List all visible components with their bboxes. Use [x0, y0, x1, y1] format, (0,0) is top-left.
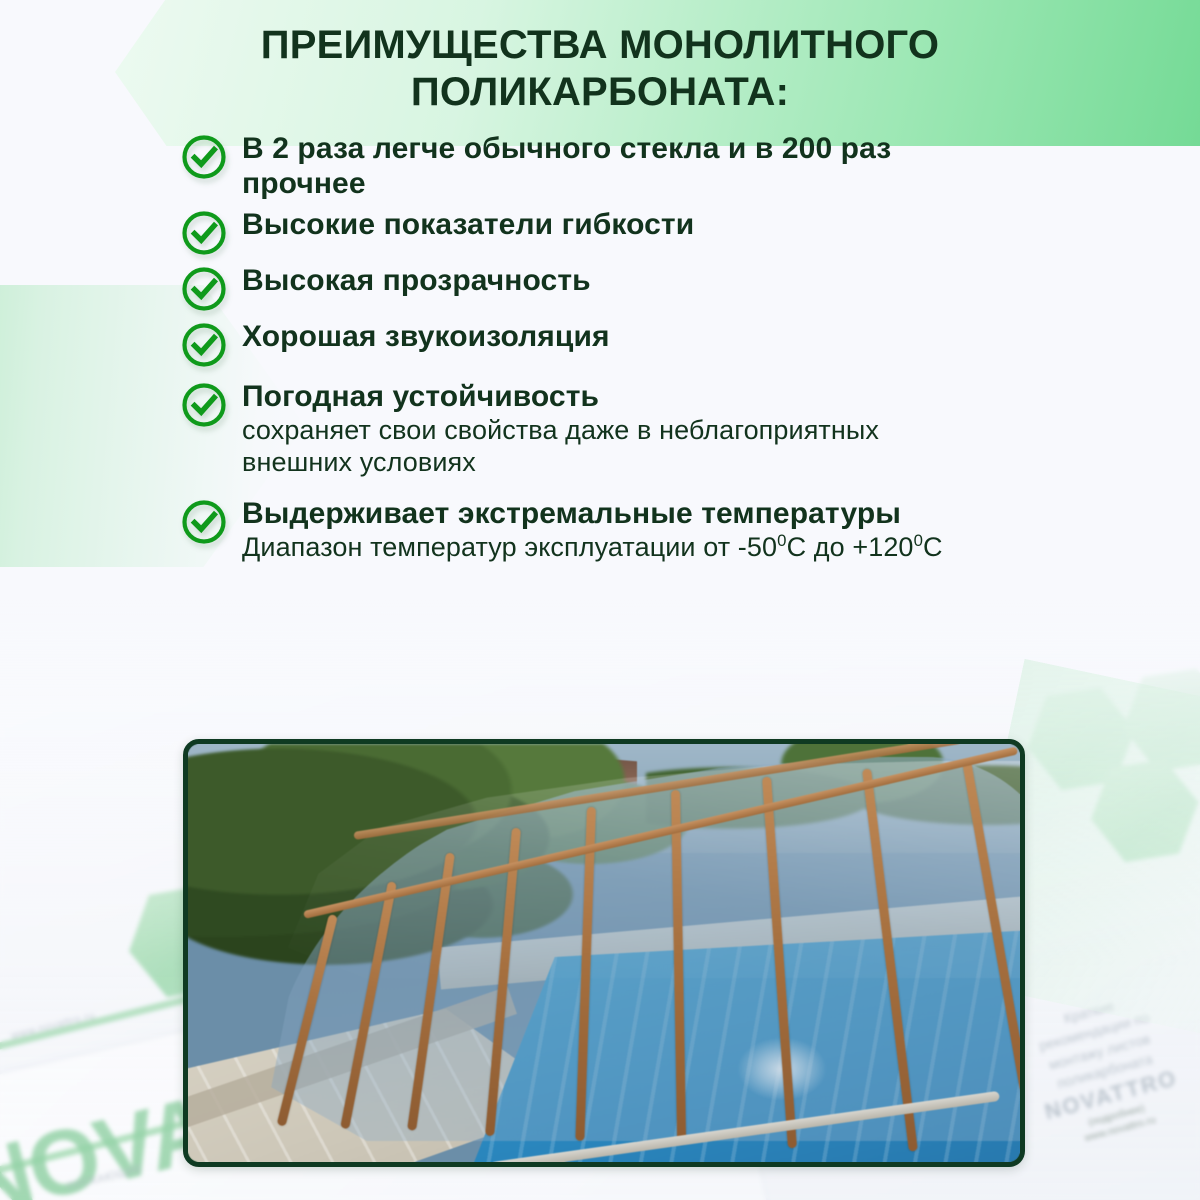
list-item-text: Высокие показатели гибкости: [242, 207, 980, 242]
list-item-label: Высокая прозрачность: [242, 264, 591, 297]
list-item-label: Погодная устойчивость: [242, 380, 599, 413]
temp-range-prefix: Диапазон температур эксплуатации от -50: [242, 532, 777, 562]
degree-symbol-1: 0: [777, 531, 786, 550]
photo-inner: [188, 744, 1020, 1162]
poster-canvas: NOVATTRO www.novattro.ru ПУСКАЮЩИЕ Кратк…: [0, 0, 1200, 1200]
list-item-sublabel: Диапазон температур эксплуатации от -500…: [242, 532, 980, 563]
list-item-text: Высокая прозрачность: [242, 263, 980, 298]
list-item: Погодная устойчивость сохраняет свои сво…: [180, 379, 980, 478]
check-circle-icon: [180, 498, 228, 546]
temp-range-mid: С до +120: [787, 532, 914, 562]
page-title: ПРЕИМУЩЕСТВА МОНОЛИТНОГО ПОЛИКАРБОНАТА:: [150, 22, 1050, 116]
check-circle-icon: [180, 209, 228, 257]
degree-symbol-2: 0: [914, 531, 923, 550]
page-title-line-1: ПРЕИМУЩЕСТВА МОНОЛИТНОГО: [150, 22, 1050, 69]
list-item-label: В 2 раза легче обычного стекла и в 200 р…: [242, 132, 891, 200]
list-item-text: Выдерживает экстремальные температуры Ди…: [242, 496, 980, 563]
list-item-label: Хорошая звукоизоляция: [242, 320, 610, 353]
check-circle-icon: [180, 321, 228, 369]
list-item-label: Выдерживает экстремальные температуры: [242, 497, 901, 530]
list-item-label: Высокие показатели гибкости: [242, 208, 694, 241]
benefits-list: В 2 раза легче обычного стекла и в 200 р…: [180, 131, 980, 571]
pool-enclosure-photo: [183, 739, 1025, 1167]
photo-soft-blur: [188, 744, 1020, 1162]
content-area: ПРЕИМУЩЕСТВА МОНОЛИТНОГО ПОЛИКАРБОНАТА: …: [0, 0, 1200, 1200]
list-item-sublabel: сохраняет свои свойства даже в неблагопр…: [242, 415, 980, 478]
check-circle-icon: [180, 265, 228, 313]
list-item-text: Хорошая звукоизоляция: [242, 319, 980, 354]
list-item: В 2 раза легче обычного стекла и в 200 р…: [180, 131, 980, 201]
temp-range-suffix: С: [923, 532, 943, 562]
list-item: Выдерживает экстремальные температуры Ди…: [180, 496, 980, 563]
page-title-line-2: ПОЛИКАРБОНАТА:: [150, 69, 1050, 116]
list-item-text: В 2 раза легче обычного стекла и в 200 р…: [242, 131, 980, 201]
list-item-text: Погодная устойчивость сохраняет свои сво…: [242, 379, 980, 478]
check-circle-icon: [180, 133, 228, 181]
check-circle-icon: [180, 381, 228, 429]
list-item: Высокие показатели гибкости: [180, 207, 980, 257]
list-item: Высокая прозрачность: [180, 263, 980, 313]
list-item: Хорошая звукоизоляция: [180, 319, 980, 369]
